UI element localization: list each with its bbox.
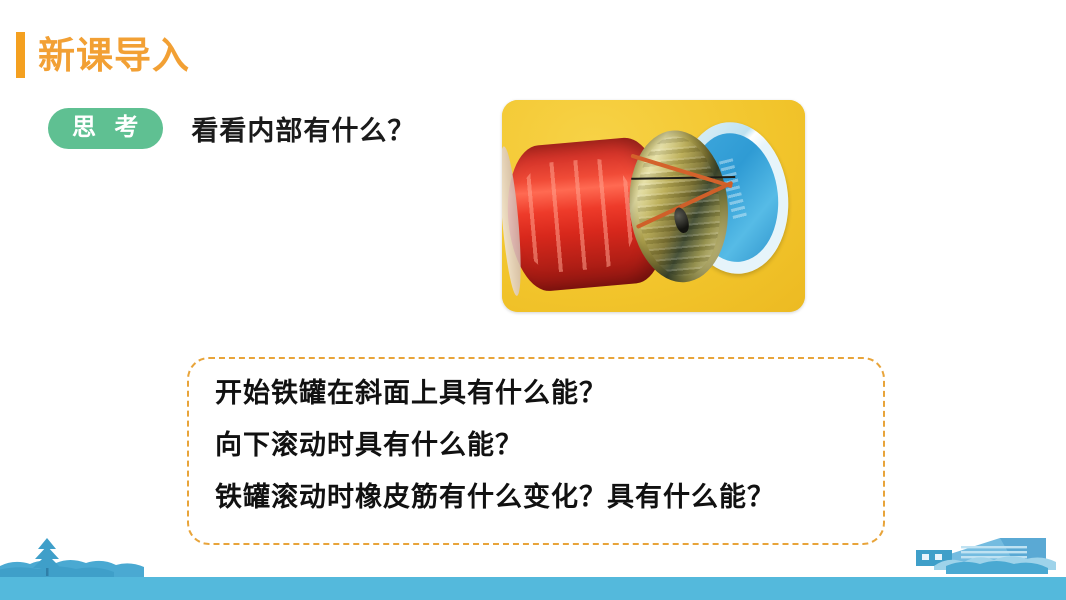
question-line-1: 开始铁罐在斜面上具有什么能？ bbox=[215, 378, 875, 409]
question-list: 开始铁罐在斜面上具有什么能？ 向下滚动时具有什么能？ 铁罐滚动时橡皮筋有什么变化… bbox=[215, 378, 875, 513]
building-scenery-icon bbox=[850, 532, 1066, 580]
question-line-2: 向下滚动时具有什么能？ bbox=[215, 430, 875, 461]
can-photo bbox=[502, 100, 805, 312]
think-prompt-row: 思 考 看看内部有什么？ bbox=[48, 108, 415, 149]
page-title: 新课导入 bbox=[38, 37, 190, 74]
slide-canvas: 新课导入 思 考 看看内部有什么？ 开始铁罐在斜面上具有什么能？ bbox=[0, 0, 1066, 600]
iron-can-graphic bbox=[502, 132, 704, 294]
tree-scenery-icon bbox=[0, 534, 300, 580]
header-accent-bar bbox=[16, 32, 25, 78]
page-header: 新课导入 bbox=[16, 32, 190, 78]
think-question-text: 看看内部有什么？ bbox=[191, 109, 415, 148]
bottom-color-band bbox=[0, 577, 1066, 600]
question-line-3: 铁罐滚动时橡皮筋有什么变化？具有什么能？ bbox=[215, 482, 875, 513]
can-highlight-ribs bbox=[512, 155, 641, 275]
think-badge: 思 考 bbox=[48, 108, 163, 149]
